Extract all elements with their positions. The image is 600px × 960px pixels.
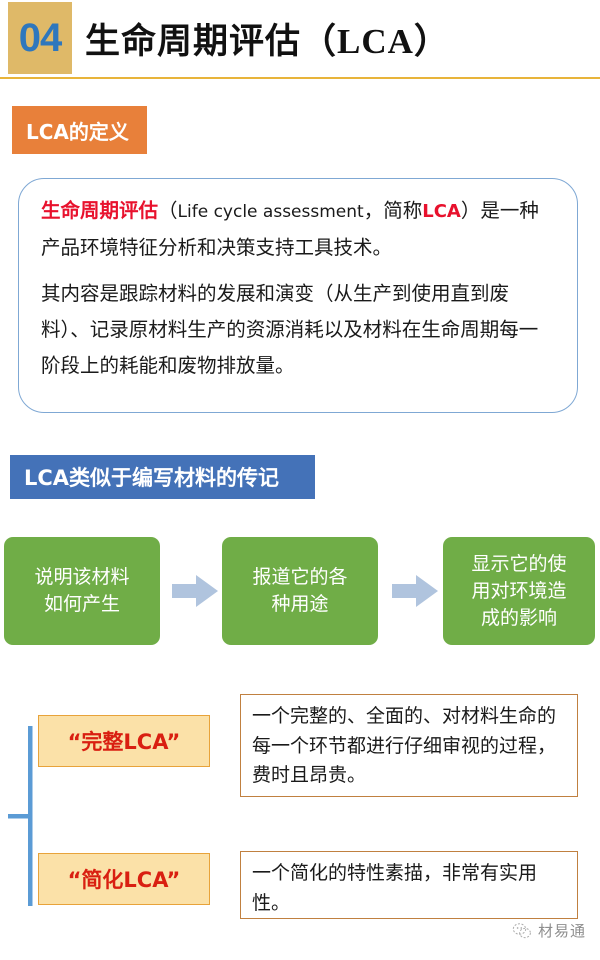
flow-step-2-line-1: 报道它的各 bbox=[252, 564, 347, 591]
lca-type-description-simple: 一个简化的特性素描，非常有实用性。 bbox=[240, 851, 578, 919]
page-title: 生命周期评估（LCA） bbox=[85, 2, 450, 74]
flow-step-2: 报道它的各 种用途 bbox=[222, 537, 378, 645]
section-number: 04 bbox=[19, 16, 62, 61]
flow-step-3-line-1: 显示它的使 bbox=[471, 551, 566, 578]
definition-comma: ， bbox=[364, 199, 384, 222]
arrow-right-icon bbox=[392, 575, 438, 607]
lca-type-label-full: “完整LCA” bbox=[38, 715, 210, 767]
definition-paragraph-2: 其内容是跟踪材料的发展和演变（从生产到使用直到废料）、记录原材料生产的资源消耗以… bbox=[41, 276, 557, 384]
flow-step-3: 显示它的使 用对环境造 成的影响 bbox=[443, 537, 595, 645]
section-badge-analogy-label: LCA类似于编写材料的传记 bbox=[24, 462, 279, 492]
flow-step-1-line-2: 如何产生 bbox=[34, 591, 129, 618]
bracket-icon bbox=[8, 726, 38, 906]
flow-step-3-line-2: 用对环境造 bbox=[471, 578, 566, 605]
lca-type-description-full: 一个完整的、全面的、对材料生命的每一个环节都进行仔细审视的过程，费时且昂贵。 bbox=[240, 694, 578, 797]
definition-abbr-prefix: 简称 bbox=[383, 199, 422, 222]
definition-open-paren: （ bbox=[158, 199, 178, 222]
arrow-right-icon bbox=[172, 575, 218, 607]
watermark-text: 材易通 bbox=[538, 920, 586, 941]
header-divider bbox=[0, 77, 600, 79]
definition-paragraph-1: 生命周期评估（Life cycle assessment，简称LCA）是一种产品… bbox=[41, 193, 557, 266]
page-header: 04 生命周期评估（LCA） bbox=[0, 0, 600, 80]
section-number-badge: 04 bbox=[8, 2, 72, 74]
wechat-logo-icon bbox=[512, 922, 532, 940]
flow-step-1: 说明该材料 如何产生 bbox=[4, 537, 160, 645]
definition-latin-term: Life cycle assessment bbox=[178, 202, 364, 222]
flow-step-1-line-1: 说明该材料 bbox=[34, 564, 129, 591]
section-badge-analogy: LCA类似于编写材料的传记 bbox=[10, 455, 315, 499]
section-badge-definition: LCA的定义 bbox=[12, 106, 147, 154]
flow-step-2-line-2: 种用途 bbox=[252, 591, 347, 618]
lca-type-label-full-text: “完整LCA” bbox=[68, 726, 181, 756]
lca-type-label-simple: “简化LCA” bbox=[38, 853, 210, 905]
definition-close-paren: ） bbox=[461, 199, 481, 222]
section-badge-definition-label: LCA的定义 bbox=[26, 116, 129, 145]
definition-term: 生命周期评估 bbox=[41, 199, 158, 222]
flow-diagram: 说明该材料 如何产生 报道它的各 种用途 显示它的使 用对环境造 成的影响 bbox=[0, 537, 600, 647]
definition-abbr: LCA bbox=[422, 201, 461, 222]
flow-step-3-line-3: 成的影响 bbox=[471, 605, 566, 632]
lca-type-label-simple-text: “简化LCA” bbox=[68, 864, 181, 894]
watermark: 材易通 bbox=[512, 920, 586, 941]
definition-card: 生命周期评估（Life cycle assessment，简称LCA）是一种产品… bbox=[18, 178, 578, 413]
